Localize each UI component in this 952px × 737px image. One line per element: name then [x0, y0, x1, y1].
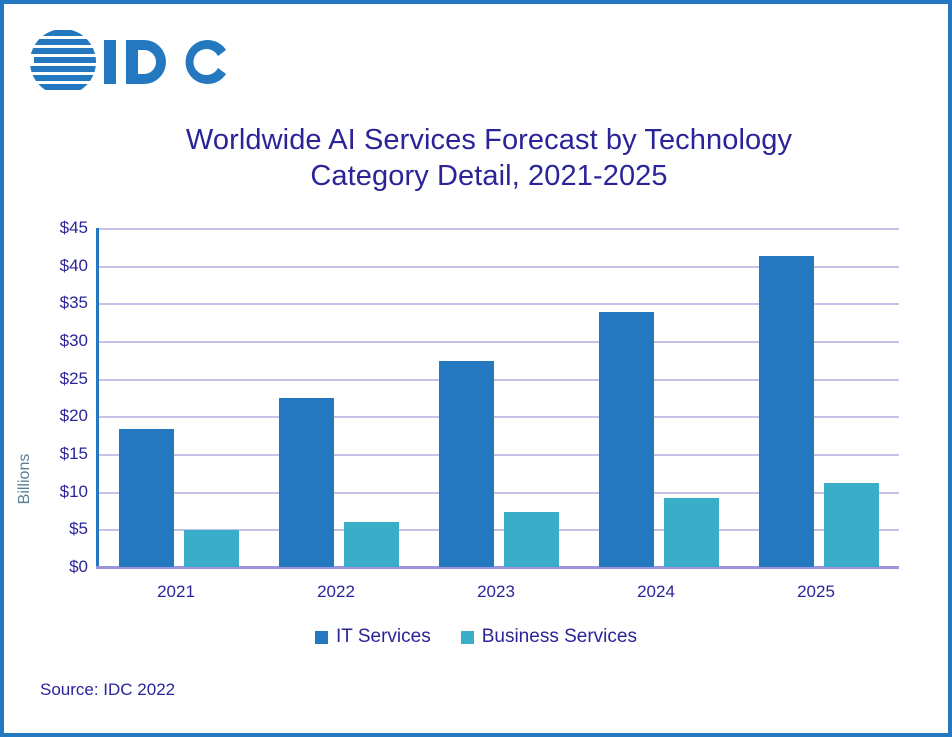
- y-axis-tick-labels: $0$5$10$15$20$25$30$35$40$45: [36, 209, 88, 567]
- bar-groups: [99, 228, 899, 567]
- legend-item-business-services[interactable]: Business Services: [461, 626, 637, 648]
- bar-it-services-2024[interactable]: [599, 312, 654, 567]
- bar-group: [419, 228, 579, 567]
- bar-group: [739, 228, 899, 567]
- y-axis-title: Billions: [16, 419, 34, 539]
- y-axis-tick-label: $0: [36, 557, 88, 577]
- bar-it-services-2021[interactable]: [119, 429, 174, 567]
- x-axis-tick-labels: 20212022202320242025: [96, 582, 896, 602]
- x-axis-tick-label: 2025: [736, 582, 896, 602]
- idc-logo: [26, 26, 236, 98]
- bar-business-services-2021[interactable]: [184, 530, 239, 567]
- legend-swatch-icon: [461, 631, 474, 644]
- x-axis-tick-label: 2023: [416, 582, 576, 602]
- bar-business-services-2023[interactable]: [504, 512, 559, 567]
- x-axis-tick-label: 2021: [96, 582, 256, 602]
- x-axis-tick-label: 2022: [256, 582, 416, 602]
- bar-group: [579, 228, 739, 567]
- chart-title-line-1: Worldwide AI Services Forecast by Techno…: [74, 122, 904, 158]
- idc-logo-svg: [26, 26, 236, 98]
- source-note: Source: IDC 2022: [40, 680, 175, 700]
- x-axis-tick-label: 2024: [576, 582, 736, 602]
- y-axis-tick-label: $5: [36, 519, 88, 539]
- bar-it-services-2023[interactable]: [439, 361, 494, 567]
- plot-canvas: [96, 228, 899, 567]
- legend-item-it-services[interactable]: IT Services: [315, 626, 431, 648]
- striped-globe-icon: [26, 30, 114, 90]
- y-axis-tick-label: $30: [36, 331, 88, 351]
- bar-business-services-2022[interactable]: [344, 522, 399, 567]
- bar-business-services-2024[interactable]: [664, 498, 719, 567]
- legend-label: Business Services: [482, 626, 637, 648]
- chart-plot-area: Billions $0$5$10$15$20$25$30$35$40$45: [4, 209, 948, 589]
- bar-it-services-2025[interactable]: [759, 256, 814, 567]
- bar-business-services-2025[interactable]: [824, 483, 879, 567]
- chart-title-line-2: Category Detail, 2021-2025: [74, 158, 904, 194]
- y-axis-tick-label: $15: [36, 444, 88, 464]
- y-axis-tick-label: $40: [36, 256, 88, 276]
- y-axis-tick-label: $10: [36, 482, 88, 502]
- legend-label: IT Services: [336, 626, 431, 648]
- legend-swatch-icon: [315, 631, 328, 644]
- y-axis-tick-label: $25: [36, 369, 88, 389]
- chart-legend: IT ServicesBusiness Services: [4, 626, 948, 648]
- bar-it-services-2022[interactable]: [279, 398, 334, 567]
- chart-page: Worldwide AI Services Forecast by Techno…: [0, 0, 952, 737]
- y-axis-tick-label: $20: [36, 406, 88, 426]
- bar-group: [99, 228, 259, 567]
- chart-title: Worldwide AI Services Forecast by Techno…: [74, 122, 904, 194]
- y-axis-tick-label: $45: [36, 218, 88, 238]
- y-axis-tick-label: $35: [36, 293, 88, 313]
- bar-group: [259, 228, 419, 567]
